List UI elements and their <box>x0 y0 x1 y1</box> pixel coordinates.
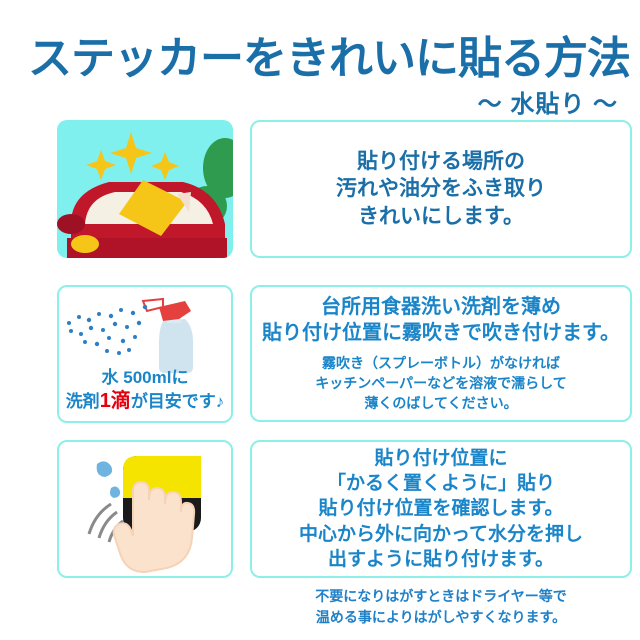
step-3-text-panel: 貼り付け位置に 「かるく置くように」貼り 貼り付け位置を確認します。 中心から外… <box>250 440 632 578</box>
spray-caption-highlight: 1滴 <box>100 390 131 412</box>
spray-caption-post: が目安です♪ <box>131 392 225 411</box>
spray-caption-line-1: 水 500mlに <box>59 368 231 389</box>
footer-note: 不要になりはがすときはドライヤー等で 温める事によりはがしやすくなります。 <box>250 586 632 628</box>
step-1-text-panel: 貼り付ける場所の 汚れや油分をふき取り きれいにします。 <box>250 120 632 258</box>
hand-pressing-sticker-illustration <box>57 440 233 578</box>
step-3-line: 出すように貼り付けます。 <box>328 547 554 572</box>
page-subtitle: ～ 水貼り ～ <box>478 84 618 119</box>
step-1-line: 汚れや油分をふき取り <box>336 175 546 202</box>
step-3-line: 貼り付け位置を確認します。 <box>318 496 563 521</box>
step-3-line: 中心から外に向かって水分を押し <box>299 522 583 547</box>
step-2-sub-line: 霧吹き（スプレーボトル）がなければ <box>322 353 560 373</box>
page-title: ステッカーをきれいに貼る方法 <box>28 22 630 86</box>
spray-bottle-illustration: 水 500mlに 洗剤1滴が目安です♪ <box>57 285 233 423</box>
step-2-row: 水 500mlに 洗剤1滴が目安です♪ 台所用食器洗い洗剤を薄め 貼り付け位置に… <box>0 285 640 425</box>
step-3-row: 貼り付け位置に 「かるく置くように」貼り 貼り付け位置を確認します。 中心から外… <box>0 440 640 585</box>
step-2-line: 台所用食器洗い洗剤を薄め <box>321 294 561 320</box>
step-1-line: 貼り付ける場所の <box>357 148 525 175</box>
step-1-row: 貼り付ける場所の 汚れや油分をふき取り きれいにします。 <box>0 120 640 268</box>
step-3-line: 「かるく置くように」貼り <box>327 471 555 496</box>
infographic-page: ステッカーをきれいに貼る方法 ～ 水貼り ～ <box>0 0 640 640</box>
step-2-text-panel: 台所用食器洗い洗剤を薄め 貼り付け位置に霧吹きで吹き付けます。 霧吹き（スプレー… <box>250 285 632 422</box>
step-2-line: 貼り付け位置に霧吹きで吹き付けます。 <box>262 320 620 346</box>
header: ステッカーをきれいに貼る方法 ～ 水貼り ～ <box>0 0 640 118</box>
step-3-line: 貼り付け位置に <box>374 446 507 471</box>
footer-note-line: 不要になりはがすときはドライヤー等で <box>250 586 632 607</box>
spray-caption-line-2: 洗剤1滴が目安です♪ <box>59 389 231 413</box>
step-2-sub-line: キッチンペーパーなどを溶液で濡らして <box>315 373 566 393</box>
step-2-sub-line: 薄くのばしてください。 <box>364 393 517 413</box>
step-1-line: きれいにします。 <box>358 203 524 230</box>
footer-note-line: 温める事によりはがしやすくなります。 <box>250 607 632 628</box>
car-wipe-sparkle-illustration <box>57 120 233 258</box>
spray-caption: 水 500mlに 洗剤1滴が目安です♪ <box>59 368 231 413</box>
spray-caption-pre: 洗剤 <box>66 392 100 411</box>
